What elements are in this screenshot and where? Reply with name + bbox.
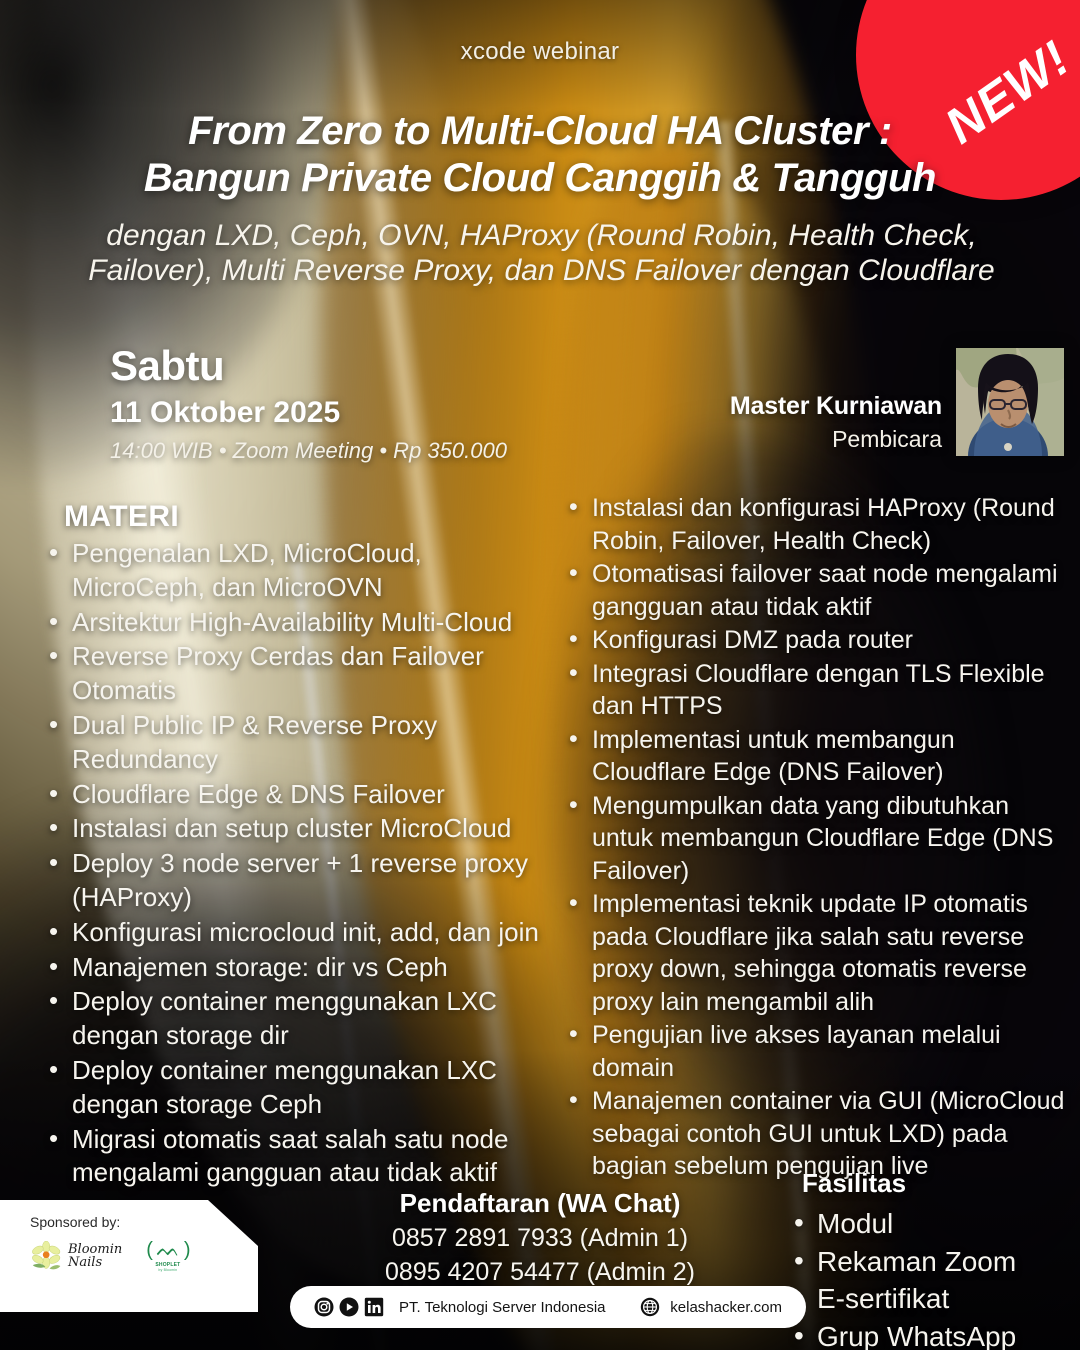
list-item: Otomatisasi failover saat node mengalami… bbox=[565, 558, 1070, 623]
flower-icon bbox=[30, 1241, 64, 1271]
event-day: Sabtu bbox=[110, 343, 507, 388]
subtitle-line-2: Failover), Multi Reverse Proxy, dan DNS … bbox=[24, 253, 1059, 288]
poster-root: NEW! xcode webinar From Zero to Multi-Cl… bbox=[0, 0, 1080, 1350]
facilities-title: Fasilitas bbox=[790, 1168, 1035, 1199]
kicker-text: xcode webinar bbox=[0, 38, 1080, 66]
materi-list-left: Pengenalan LXD, MicroCloud, MicroCeph, d… bbox=[45, 537, 550, 1191]
sponsor-logo-bloomin-nails: Bloomin Nails bbox=[30, 1241, 122, 1271]
sponsor-label: Sponsored by: bbox=[30, 1214, 120, 1230]
sponsor-bloomin-line2: Nails bbox=[68, 1256, 122, 1269]
footer-company: PT. Teknologi Server Indonesia bbox=[399, 1299, 606, 1316]
list-item: Dual Public IP & Reverse Proxy Redundanc… bbox=[45, 709, 550, 777]
list-item: Konfigurasi microcloud init, add, dan jo… bbox=[45, 916, 550, 950]
plant-bracket-icon: ( ᨓ ) bbox=[146, 1240, 189, 1260]
list-item: E-sertifikat bbox=[790, 1280, 1035, 1318]
footer-website[interactable]: kelashacker.com bbox=[670, 1299, 782, 1316]
avatar bbox=[956, 348, 1064, 456]
list-item: Mengumpulkan data yang dibutuhkan untuk … bbox=[565, 790, 1070, 888]
speaker-block: Master Kurniawan Pembicara bbox=[730, 348, 1064, 456]
speaker-role: Pembicara bbox=[730, 426, 942, 453]
page-title: From Zero to Multi-Cloud HA Cluster : Ba… bbox=[40, 108, 1040, 202]
list-item: Reverse Proxy Cerdas dan Failover Otomat… bbox=[45, 640, 550, 708]
list-item: Implementasi teknik update IP otomatis p… bbox=[565, 888, 1070, 1018]
list-item: Implementasi untuk membangun Cloudflare … bbox=[565, 724, 1070, 789]
instagram-icon[interactable] bbox=[314, 1297, 334, 1317]
facilities-list: Modul Rekaman Zoom E-sertifikat Grup Wha… bbox=[790, 1205, 1035, 1350]
registration-phone-1[interactable]: 0857 2891 7933 (Admin 1) bbox=[230, 1224, 850, 1253]
speaker-name: Master Kurniawan bbox=[730, 392, 942, 421]
list-item: Deploy 3 node server + 1 reverse proxy (… bbox=[45, 847, 550, 915]
sponsor-logos: Bloomin Nails ( ᨓ ) SHOPLET by Bloomin bbox=[30, 1240, 190, 1272]
list-item: Arsitektur High-Availability Multi-Cloud bbox=[45, 606, 550, 640]
list-item: Pengenalan LXD, MicroCloud, MicroCeph, d… bbox=[45, 537, 550, 605]
list-item: Instalasi dan konfigurasi HAProxy (Round… bbox=[565, 492, 1070, 557]
facilities-block: Fasilitas Modul Rekaman Zoom E-sertifika… bbox=[790, 1168, 1035, 1350]
event-meta: 14:00 WIB • Zoom Meeting • Rp 350.000 bbox=[110, 438, 507, 464]
sponsor-logo2-sub: by Bloomin bbox=[146, 1268, 189, 1272]
title-line-2: Bangun Private Cloud Canggih & Tangguh bbox=[40, 155, 1040, 202]
list-item: Cloudflare Edge & DNS Failover bbox=[45, 778, 550, 812]
materi-list-right: Instalasi dan konfigurasi HAProxy (Round… bbox=[565, 492, 1070, 1184]
registration-block: Pendaftaran (WA Chat) 0857 2891 7933 (Ad… bbox=[230, 1188, 850, 1287]
subtitle: dengan LXD, Ceph, OVN, HAProxy (Round Ro… bbox=[24, 218, 1059, 289]
youtube-icon[interactable] bbox=[339, 1297, 359, 1317]
list-item: Manajemen storage: dir vs Ceph bbox=[45, 951, 550, 985]
event-date-block: Sabtu 11 Oktober 2025 14:00 WIB • Zoom M… bbox=[110, 343, 507, 464]
list-item: Instalasi dan setup cluster MicroCloud bbox=[45, 812, 550, 846]
list-item: Rekaman Zoom bbox=[790, 1243, 1035, 1281]
linkedin-icon[interactable] bbox=[364, 1297, 384, 1317]
sponsor-panel: Sponsored by: bbox=[0, 1200, 258, 1312]
list-item: Deploy container menggunakan LXC dengan … bbox=[45, 985, 550, 1053]
list-item: Migrasi otomatis saat salah satu node me… bbox=[45, 1123, 550, 1191]
event-date: 11 Oktober 2025 bbox=[110, 396, 507, 429]
registration-title: Pendaftaran (WA Chat) bbox=[230, 1188, 850, 1219]
list-item: Integrasi Cloudflare dengan TLS Flexible… bbox=[565, 658, 1070, 723]
list-item: Modul bbox=[790, 1205, 1035, 1243]
registration-phone-2[interactable]: 0895 4207 54477 (Admin 2) bbox=[230, 1258, 850, 1287]
subtitle-line-1: dengan LXD, Ceph, OVN, HAProxy (Round Ro… bbox=[24, 218, 1059, 253]
list-item: Deploy container menggunakan LXC dengan … bbox=[45, 1054, 550, 1122]
list-item: Konfigurasi DMZ pada router bbox=[565, 624, 1070, 657]
avatar-photo bbox=[956, 348, 1064, 456]
list-item: Grup WhatsApp bbox=[790, 1318, 1035, 1350]
title-line-1: From Zero to Multi-Cloud HA Cluster : bbox=[40, 108, 1040, 155]
sponsor-logo-bloomin-text: Bloomin Nails bbox=[68, 1243, 122, 1269]
footer-pill: PT. Teknologi Server Indonesia kelashack… bbox=[290, 1286, 806, 1328]
list-item: Pengujian live akses layanan melalui dom… bbox=[565, 1019, 1070, 1084]
materi-heading: MATERI bbox=[64, 500, 179, 534]
sponsor-logo-secondary: ( ᨓ ) SHOPLET by Bloomin bbox=[146, 1240, 189, 1272]
globe-icon[interactable] bbox=[640, 1297, 660, 1317]
